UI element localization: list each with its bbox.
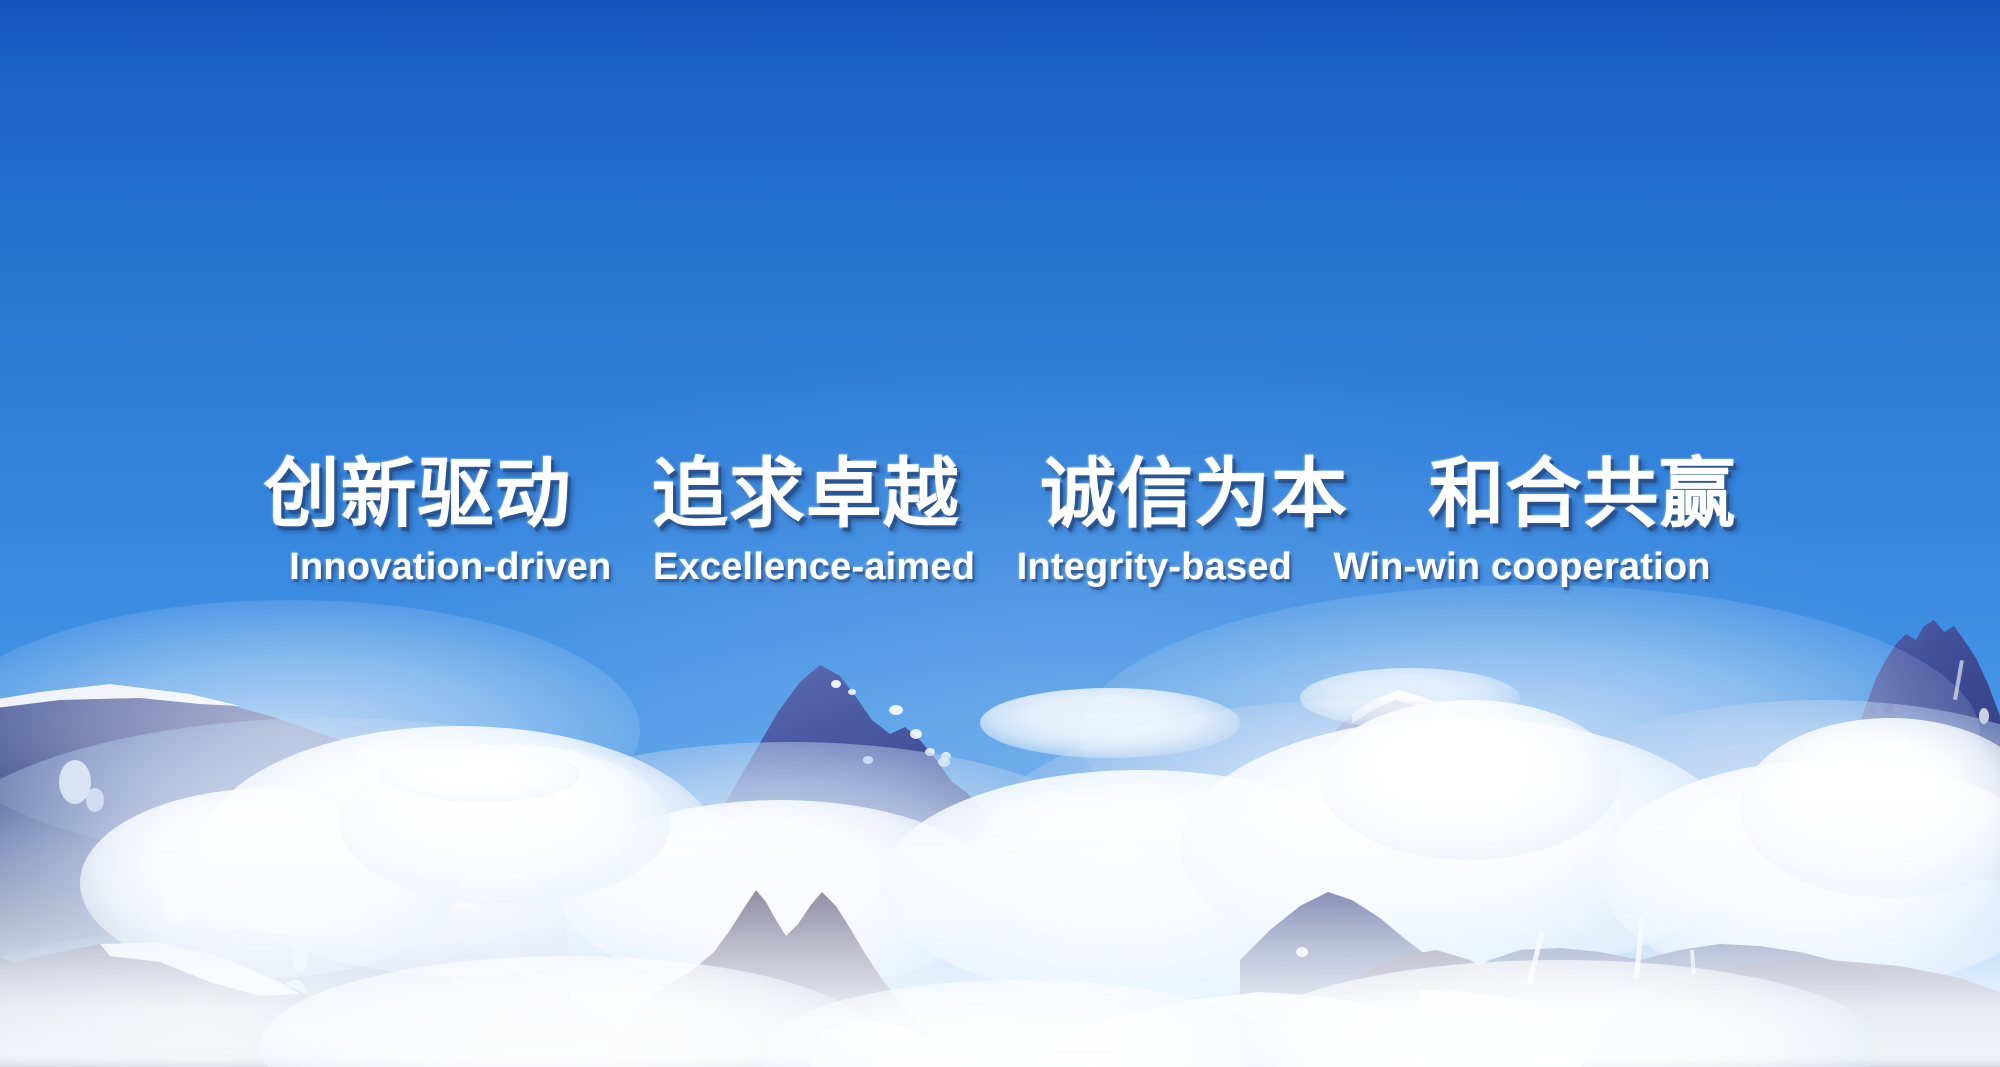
slogan-cn-phrase-4: 和合共赢 [1428,452,1736,537]
slogan-en-phrase-2: Excellence-aimed [653,546,975,588]
slogan-chinese-line: 创新驱动 追求卓越 诚信为本 和合共赢 [0,455,2000,534]
slogan-en-phrase-3: Integrity-based [1017,546,1292,588]
slogan-cn-phrase-3: 诚信为本 [1040,452,1348,537]
banner-hero: 创新驱动 追求卓越 诚信为本 和合共赢 Innovation-driven Ex… [0,0,2000,1067]
slogan-cn-phrase-2: 追求卓越 [652,452,960,537]
slogan-cn-phrase-1: 创新驱动 [264,452,572,537]
slogan-english-line: Innovation-driven Excellence-aimed Integ… [0,546,2000,589]
slogan-en-phrase-4: Win-win cooperation [1334,546,1711,588]
slogan-en-phrase-1: Innovation-driven [289,546,611,588]
foreground-fog [0,807,2000,1067]
slogan-block: 创新驱动 追求卓越 诚信为本 和合共赢 Innovation-driven Ex… [0,455,2000,589]
